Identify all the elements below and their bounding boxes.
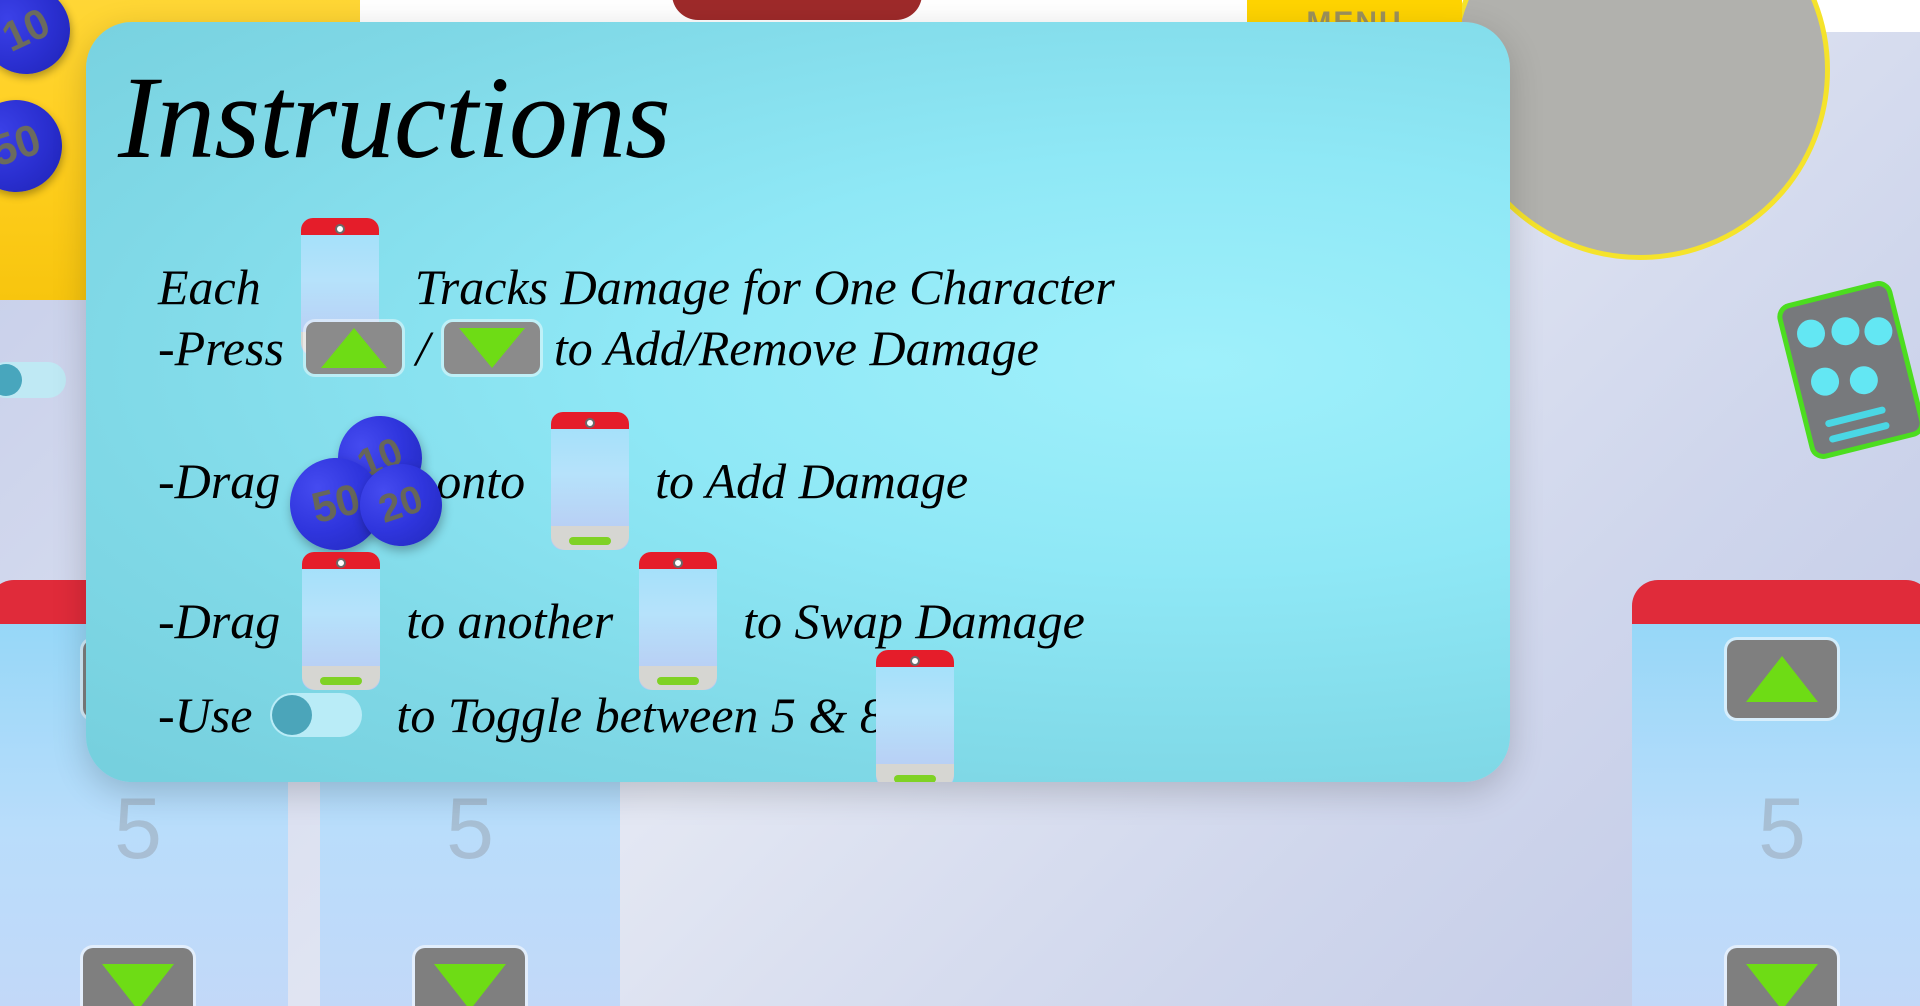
background-top-center-bar: [672, 0, 922, 20]
tracker-value: 5: [320, 780, 620, 879]
tracker-card-icon: [876, 650, 954, 782]
instruction-separator: /: [416, 323, 430, 373]
down-arrow-button-icon: [444, 322, 540, 374]
dice-hole-icon: [1828, 314, 1862, 348]
instruction-line-toggle: -Use to Toggle between 5 & 8: [158, 690, 885, 740]
instruction-text-post: to Swap Damage: [743, 596, 1085, 646]
instruction-line-drag-chips: -Drag 10 50 20 onto: [158, 412, 968, 550]
up-arrow-icon: [1746, 656, 1818, 702]
down-arrow-icon: [434, 964, 506, 1006]
background-chip-10[interactable]: 10: [0, 0, 84, 88]
instruction-text-pre: -Press: [158, 323, 284, 373]
background-chip-50[interactable]: 50: [0, 88, 74, 204]
tracker-decrement-button[interactable]: [83, 948, 193, 1006]
page-title: Instructions: [118, 50, 670, 186]
up-arrow-button-icon: [306, 322, 402, 374]
chip-value: 50: [0, 115, 47, 178]
chip-value: 20: [374, 477, 429, 532]
dice-hole-icon: [1861, 314, 1895, 348]
tracker-value: 5: [1632, 780, 1920, 879]
dice-hole-icon: [1847, 363, 1881, 397]
toggle-switch-icon: [270, 693, 362, 737]
tracker-increment-button[interactable]: [1727, 640, 1837, 718]
tracker-card-icon: [302, 552, 380, 690]
instruction-text-pre: Each: [158, 262, 261, 312]
instruction-text-pre: -Drag: [158, 596, 280, 646]
instruction-text-mid: onto: [436, 456, 525, 506]
game-screen: 10 50 MENU 5: [0, 0, 1920, 1006]
toggle-knob: [0, 364, 22, 396]
damage-chip-cluster: 10 50 20: [290, 416, 430, 546]
background-dice-card[interactable]: [1774, 278, 1920, 462]
tracker-cap-icon: [1632, 580, 1920, 624]
chip-value: 50: [307, 474, 365, 533]
tracker-card-icon: [639, 552, 717, 690]
tracker-decrement-button[interactable]: [1727, 948, 1837, 1006]
down-arrow-icon: [1746, 964, 1818, 1006]
instruction-text-post: to Toggle between 5 & 8: [396, 690, 884, 740]
instruction-line-press-arrows: -Press / to Add/Remove Damage: [158, 322, 1039, 374]
instruction-text-post: to Add/Remove Damage: [554, 323, 1039, 373]
tracker-decrement-button[interactable]: [415, 948, 525, 1006]
tracker-card-icon: [551, 412, 629, 550]
instruction-text-mid: to another: [406, 596, 613, 646]
background-tracker-card[interactable]: 5: [1632, 580, 1920, 1006]
dice-hole-icon: [1794, 317, 1828, 351]
toggle-knob: [272, 695, 312, 735]
instructions-overlay[interactable]: Instructions Each Tracks Damage for One …: [86, 22, 1510, 782]
instruction-text-pre: -Drag: [158, 456, 280, 506]
tracker-value: 5: [0, 780, 288, 879]
instruction-text-post: to Add Damage: [655, 456, 968, 506]
chip-value: 10: [0, 0, 57, 62]
dice-hole-icon: [1808, 365, 1842, 399]
background-toggle-switch[interactable]: [0, 362, 66, 398]
down-arrow-icon: [102, 964, 174, 1006]
instruction-text-pre: -Use: [158, 690, 252, 740]
instruction-text-post: Tracks Damage for One Character: [415, 262, 1115, 312]
